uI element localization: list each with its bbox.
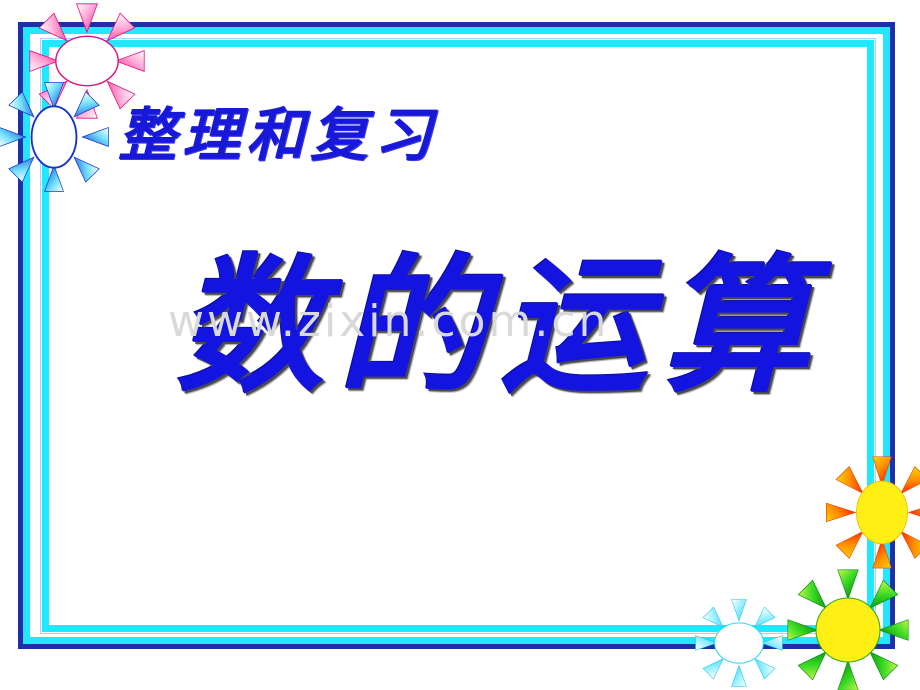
page-title: 数的运算 [176,240,824,415]
sun-burst-orange-icon [824,452,920,574]
slide-canvas: 整理和复习 数的运算 www.zixin.com.cn [0,0,920,690]
sun-burst-blue-icon [0,72,114,202]
sun-burst-cyan-icon [686,592,792,690]
sun-burst-green-icon [784,566,912,690]
page-subtitle: 整理和复习 [118,106,438,164]
